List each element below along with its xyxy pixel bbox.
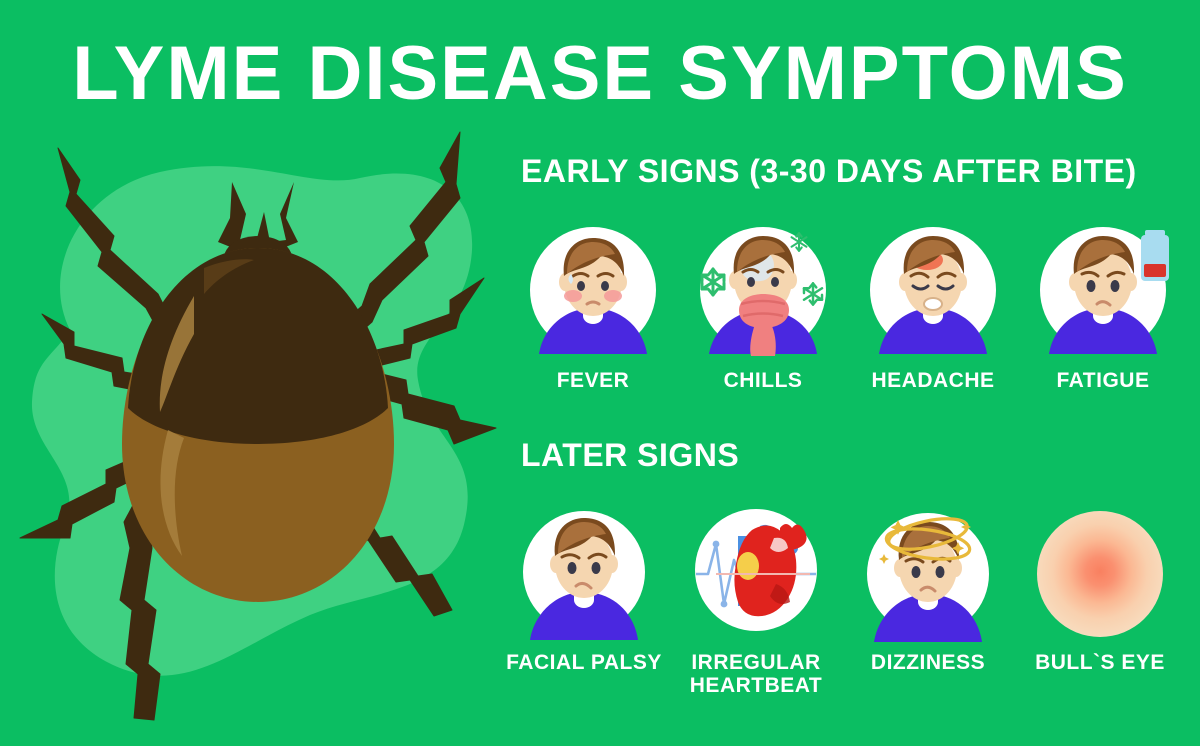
symptom-item-dizziness[interactable]: DIZZINESS	[842, 508, 1014, 697]
sick-face-chills-icon	[697, 224, 829, 364]
symptom-label: FACIAL PALSY	[506, 652, 662, 675]
sick-face-fatigue-icon	[1037, 224, 1169, 364]
symptom-item-headache[interactable]: HEADACHE	[848, 224, 1018, 393]
symptom-label: BULL`S EYE	[1035, 652, 1165, 675]
symptom-item-bullseye[interactable]: BULL`S EYE	[1014, 508, 1186, 697]
symptom-row-early: FEVER	[508, 224, 1188, 393]
sick-face-palsy-icon	[518, 508, 650, 648]
bullseye-rash-icon	[1034, 508, 1166, 648]
sick-face-dizziness-icon	[862, 508, 994, 648]
symptom-row-later: FACIAL PALSY	[498, 508, 1188, 697]
symptom-item-facial-palsy[interactable]: FACIAL PALSY	[498, 508, 670, 697]
symptom-label: FEVER	[557, 370, 630, 393]
sick-face-headache-icon	[867, 224, 999, 364]
deer-tick-illustration	[18, 108, 498, 738]
infographic-canvas: LYME DISEASE SYMPTOMS	[0, 0, 1200, 746]
section-heading-early: EARLY SIGNS (3-30 DAYS AFTER BITE)	[521, 153, 1137, 190]
section-heading-later: LATER SIGNS	[521, 437, 739, 474]
symptom-label: CHILLS	[724, 370, 803, 393]
symptom-label: IRREGULAR HEARTBEAT	[690, 652, 822, 697]
symptom-item-chills[interactable]: CHILLS	[678, 224, 848, 393]
page-title: LYME DISEASE SYMPTOMS	[0, 36, 1200, 112]
symptom-label: FATIGUE	[1057, 370, 1150, 393]
symptom-item-irregular-heartbeat[interactable]: IRREGULAR HEARTBEAT	[670, 508, 842, 697]
symptom-item-fatigue[interactable]: FATIGUE	[1018, 224, 1188, 393]
symptom-label: HEADACHE	[871, 370, 994, 393]
symptom-item-fever[interactable]: FEVER	[508, 224, 678, 393]
heart-ecg-icon	[690, 508, 822, 648]
low-battery-icon	[1141, 230, 1169, 281]
sick-face-fever-icon	[527, 224, 659, 364]
symptom-label: DIZZINESS	[871, 652, 985, 675]
